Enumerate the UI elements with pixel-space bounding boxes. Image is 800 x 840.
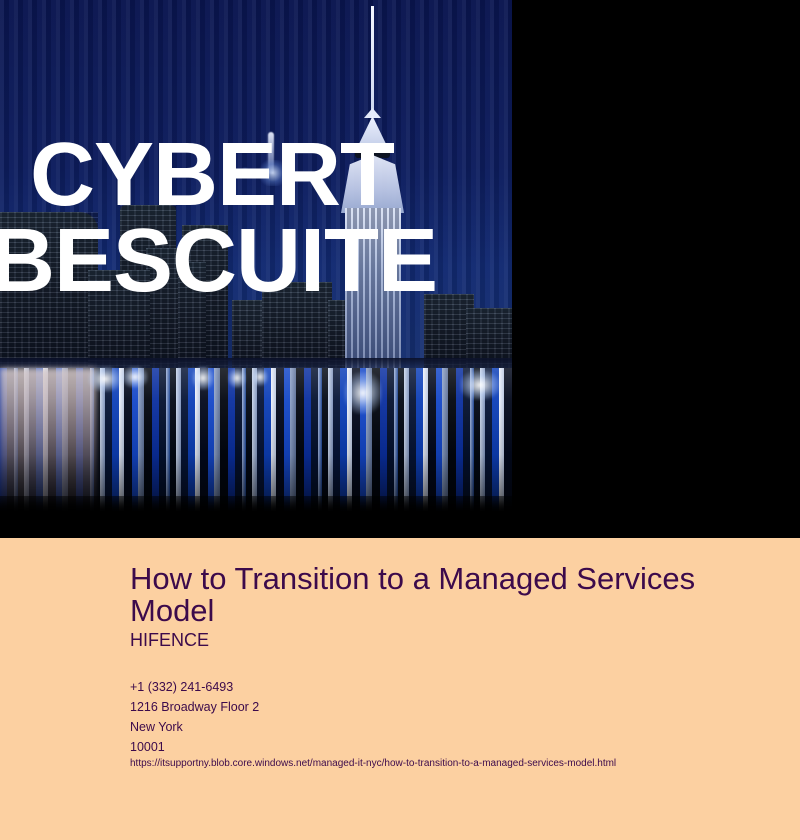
spire-antenna (371, 6, 374, 114)
hero-banner: CYBERT BESCUITE (0, 0, 800, 538)
hero-overlay-text: CYBERT BESCUITE (30, 132, 512, 305)
organization-name: HIFENCE (130, 630, 209, 650)
address-city: New York (130, 717, 259, 737)
address-postal-code: 10001 (130, 737, 259, 757)
page-title: How to Transition to a Managed Services … (130, 563, 740, 627)
phone-number[interactable]: +1 (332) 241-6493 (130, 677, 259, 697)
source-url[interactable]: https://itsupportny.blob.core.windows.ne… (130, 758, 616, 770)
contact-details: +1 (332) 241-6493 1216 Broadway Floor 2 … (130, 677, 259, 757)
article-info-panel: How to Transition to a Managed Services … (0, 538, 800, 840)
address-street: 1216 Broadway Floor 2 (130, 697, 259, 717)
image-bottom-fade (0, 496, 512, 512)
hero-overlay-line-1: CYBERT (30, 132, 512, 218)
hero-overlay-line-2: BESCUITE (0, 218, 512, 304)
reflection-shading (0, 368, 512, 512)
hero-image: CYBERT BESCUITE (0, 0, 512, 512)
